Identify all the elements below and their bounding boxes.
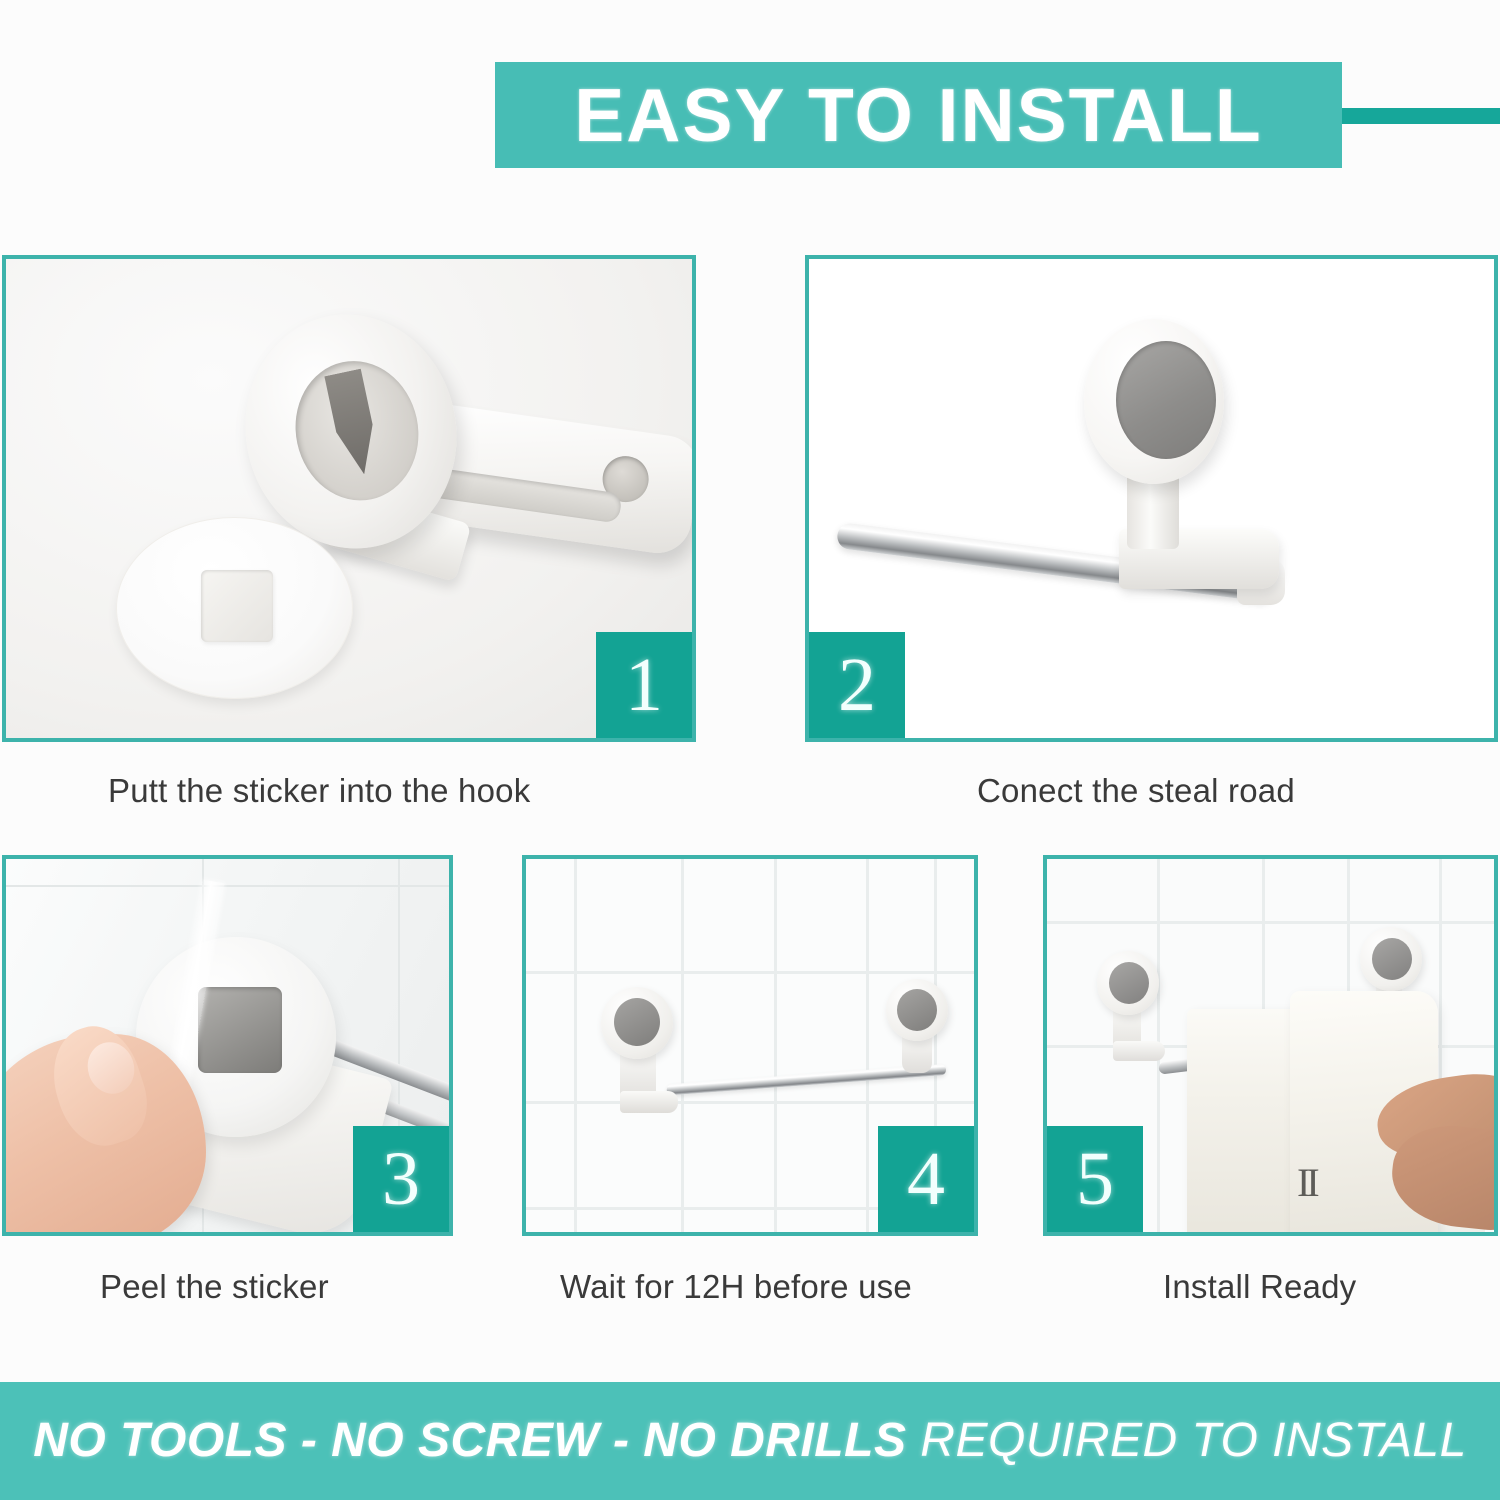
- step-panel-2: 2: [805, 255, 1498, 742]
- step-caption-4: Wait for 12H before use: [560, 1268, 912, 1306]
- footer-light-text: REQUIRED TO INSTALL: [906, 1414, 1466, 1467]
- header: EASY TO INSTALL: [0, 0, 1500, 230]
- step-number-2: 2: [838, 647, 876, 723]
- suction-hook-right: [1360, 927, 1422, 991]
- towel-left: [1187, 1009, 1302, 1232]
- step-badge-5: 5: [1047, 1126, 1143, 1232]
- towel-monogram: ΙΙ: [1297, 1159, 1316, 1206]
- step-panel-4: 4: [522, 855, 978, 1236]
- adhesive-disc-emboss: [201, 570, 273, 642]
- header-accent-rule: [1342, 108, 1500, 124]
- step-panel-3: 3: [2, 855, 453, 1236]
- step-1-photo: [6, 259, 692, 738]
- suction-hook-left: [601, 987, 673, 1059]
- hook-foot-left: [1113, 1041, 1165, 1061]
- suction-cup-core: [198, 987, 282, 1073]
- step-number-3: 3: [382, 1141, 420, 1217]
- step-2-photo: [809, 259, 1494, 738]
- step-number-5: 5: [1076, 1141, 1114, 1217]
- suction-hook-left: [1097, 951, 1159, 1015]
- suction-cup: [1084, 319, 1224, 484]
- header-band: EASY TO INSTALL: [495, 62, 1342, 168]
- step-badge-2: 2: [809, 632, 905, 738]
- step-number-1: 1: [625, 647, 663, 723]
- step-caption-5: Install Ready: [1163, 1268, 1356, 1306]
- footer-strong-text: NO TOOLS - NO SCREW - NO DRILLS: [33, 1414, 906, 1467]
- step-badge-3: 3: [353, 1126, 449, 1232]
- step-caption-1: Putt the sticker into the hook: [108, 772, 530, 810]
- suction-hook-right: [886, 979, 948, 1041]
- footer-banner: NO TOOLS - NO SCREW - NO DRILLS REQUIRED…: [0, 1382, 1500, 1500]
- adhesive-disc: [116, 517, 353, 699]
- step-badge-4: 4: [878, 1126, 974, 1232]
- step-caption-2: Conect the steal road: [977, 772, 1295, 810]
- step-caption-3: Peel the sticker: [100, 1268, 329, 1306]
- page-title: EASY TO INSTALL: [574, 78, 1262, 153]
- footer-text: NO TOOLS - NO SCREW - NO DRILLS REQUIRED…: [33, 1417, 1467, 1465]
- step-panel-1: 1: [2, 255, 696, 742]
- hook-foot-left: [620, 1091, 678, 1113]
- step-number-4: 4: [907, 1141, 945, 1217]
- step-panel-5: ΙΙ 5: [1043, 855, 1498, 1236]
- step-badge-1: 1: [596, 632, 692, 738]
- suction-cup-face: [1116, 341, 1216, 459]
